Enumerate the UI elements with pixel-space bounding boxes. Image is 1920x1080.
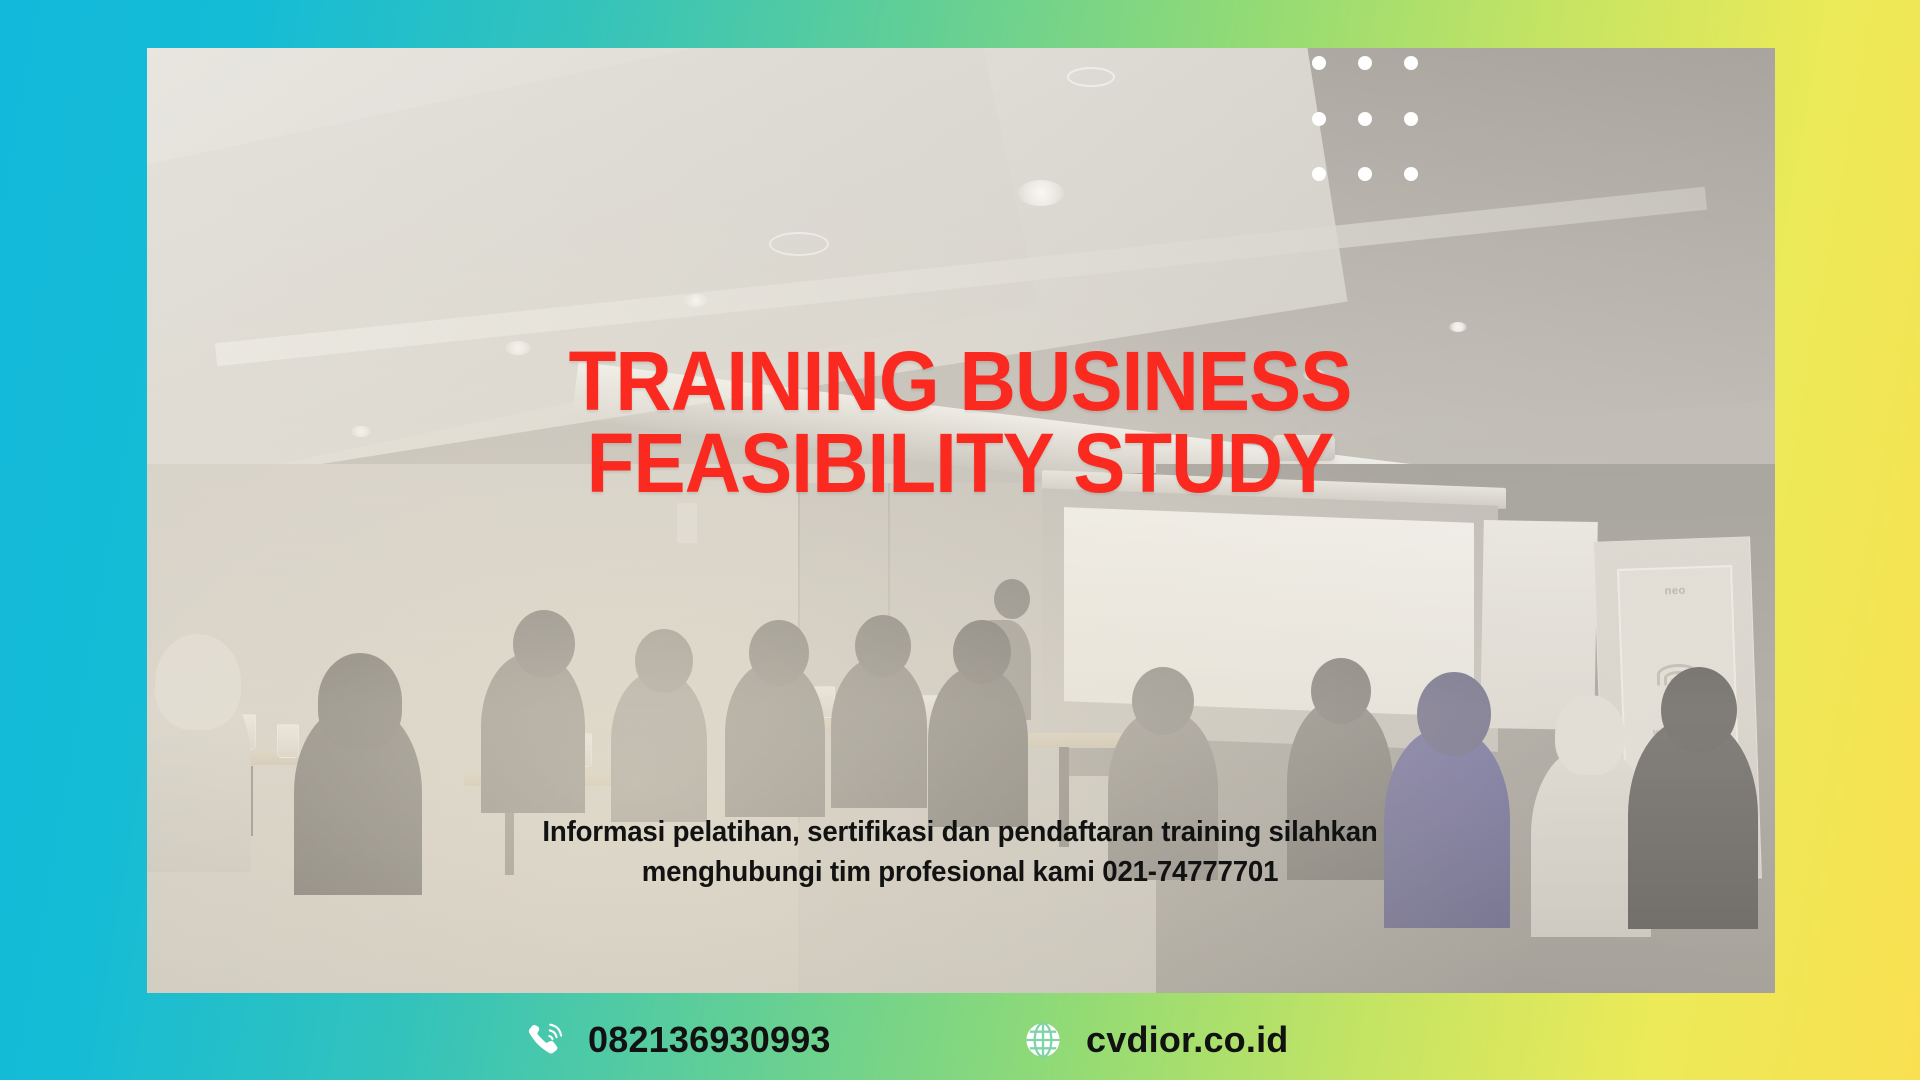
website-contact[interactable]: cvdior.co.id: [1022, 1019, 1288, 1061]
audience-member: [481, 653, 585, 813]
audience-head: [855, 615, 911, 677]
phone-number: 082136930993: [588, 1019, 831, 1061]
audience-head: [1555, 695, 1625, 775]
audience-head: [1661, 667, 1737, 753]
globe-icon: [1022, 1019, 1064, 1061]
audience-head: [749, 620, 809, 686]
subtitle-text: Informasi pelatihan, sertifikasi dan pen…: [29, 812, 1891, 893]
phone-ringing-icon: [524, 1019, 566, 1061]
projection-screen: [1064, 507, 1474, 716]
presenter-head: [994, 579, 1030, 619]
audience-head: [1417, 672, 1491, 756]
audience-head: [1311, 658, 1371, 724]
website-url: cvdior.co.id: [1086, 1019, 1288, 1061]
drinking-glass: [277, 724, 299, 758]
subtitle-line-1: Informasi pelatihan, sertifikasi dan pen…: [29, 812, 1891, 852]
audience-member: [928, 667, 1028, 827]
audience-head: [1132, 667, 1194, 735]
title-line-2: FEASIBILITY STUDY: [67, 422, 1853, 504]
audience-member: [611, 672, 707, 822]
page-title: TRAINING BUSINESS FEASIBILITY STUDY: [67, 340, 1853, 505]
poster-brand: neo: [1619, 583, 1731, 599]
title-line-1: TRAINING BUSINESS: [67, 340, 1853, 422]
audience-head: [155, 634, 241, 730]
ceiling-vent-icon: [1067, 67, 1115, 87]
dot-grid-decoration: [1312, 56, 1442, 216]
contact-footer: 082136930993 cvdior.co.id: [0, 1000, 1920, 1080]
audience-head: [953, 620, 1011, 684]
downlight-icon: [684, 294, 708, 307]
audience-head: [318, 653, 402, 749]
subtitle-line-2: menghubungi tim profesional kami 021-747…: [29, 852, 1891, 892]
poster-canvas: neo WIFI Meeting Room PASSWORD: [0, 0, 1920, 1080]
phone-contact[interactable]: 082136930993: [524, 1019, 831, 1061]
audience-member: [831, 658, 927, 808]
